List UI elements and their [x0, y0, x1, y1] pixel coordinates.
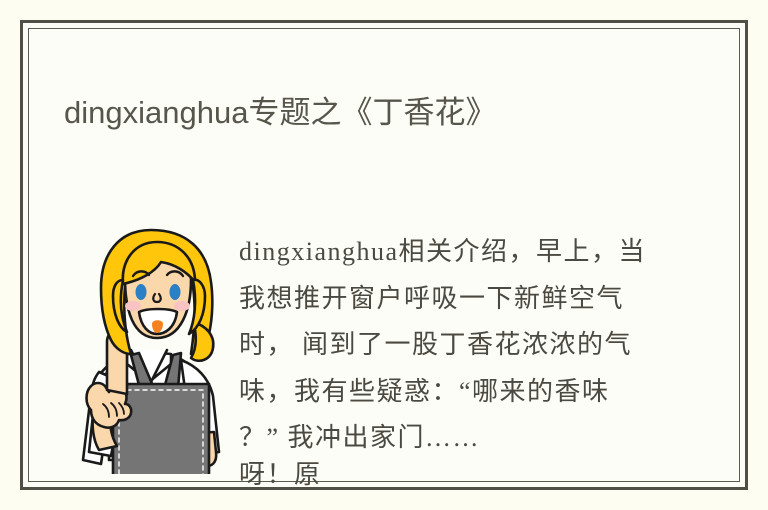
body-line: dingxianghua相关介绍，早上，当: [239, 229, 684, 276]
body-line: 味，我有些疑惑：“哪来的香味: [239, 369, 684, 416]
article-card: dingxianghua专题之《丁香花》: [20, 20, 748, 490]
body-line: 我想推开窗户呼吸一下新鲜空气: [239, 276, 684, 323]
page-title: dingxianghua专题之《丁香花》: [64, 92, 496, 134]
smiling-woman-pointing-up-illustration: [69, 214, 254, 474]
body-line: 时， 闻到了一股丁香花浓浓的气: [239, 322, 684, 369]
article-card-inner-border: dingxianghua专题之《丁香花》: [28, 28, 740, 482]
article-body: dingxianghua相关介绍，早上，当 我想推开窗户呼吸一下新鲜空气 时， …: [239, 229, 684, 498]
